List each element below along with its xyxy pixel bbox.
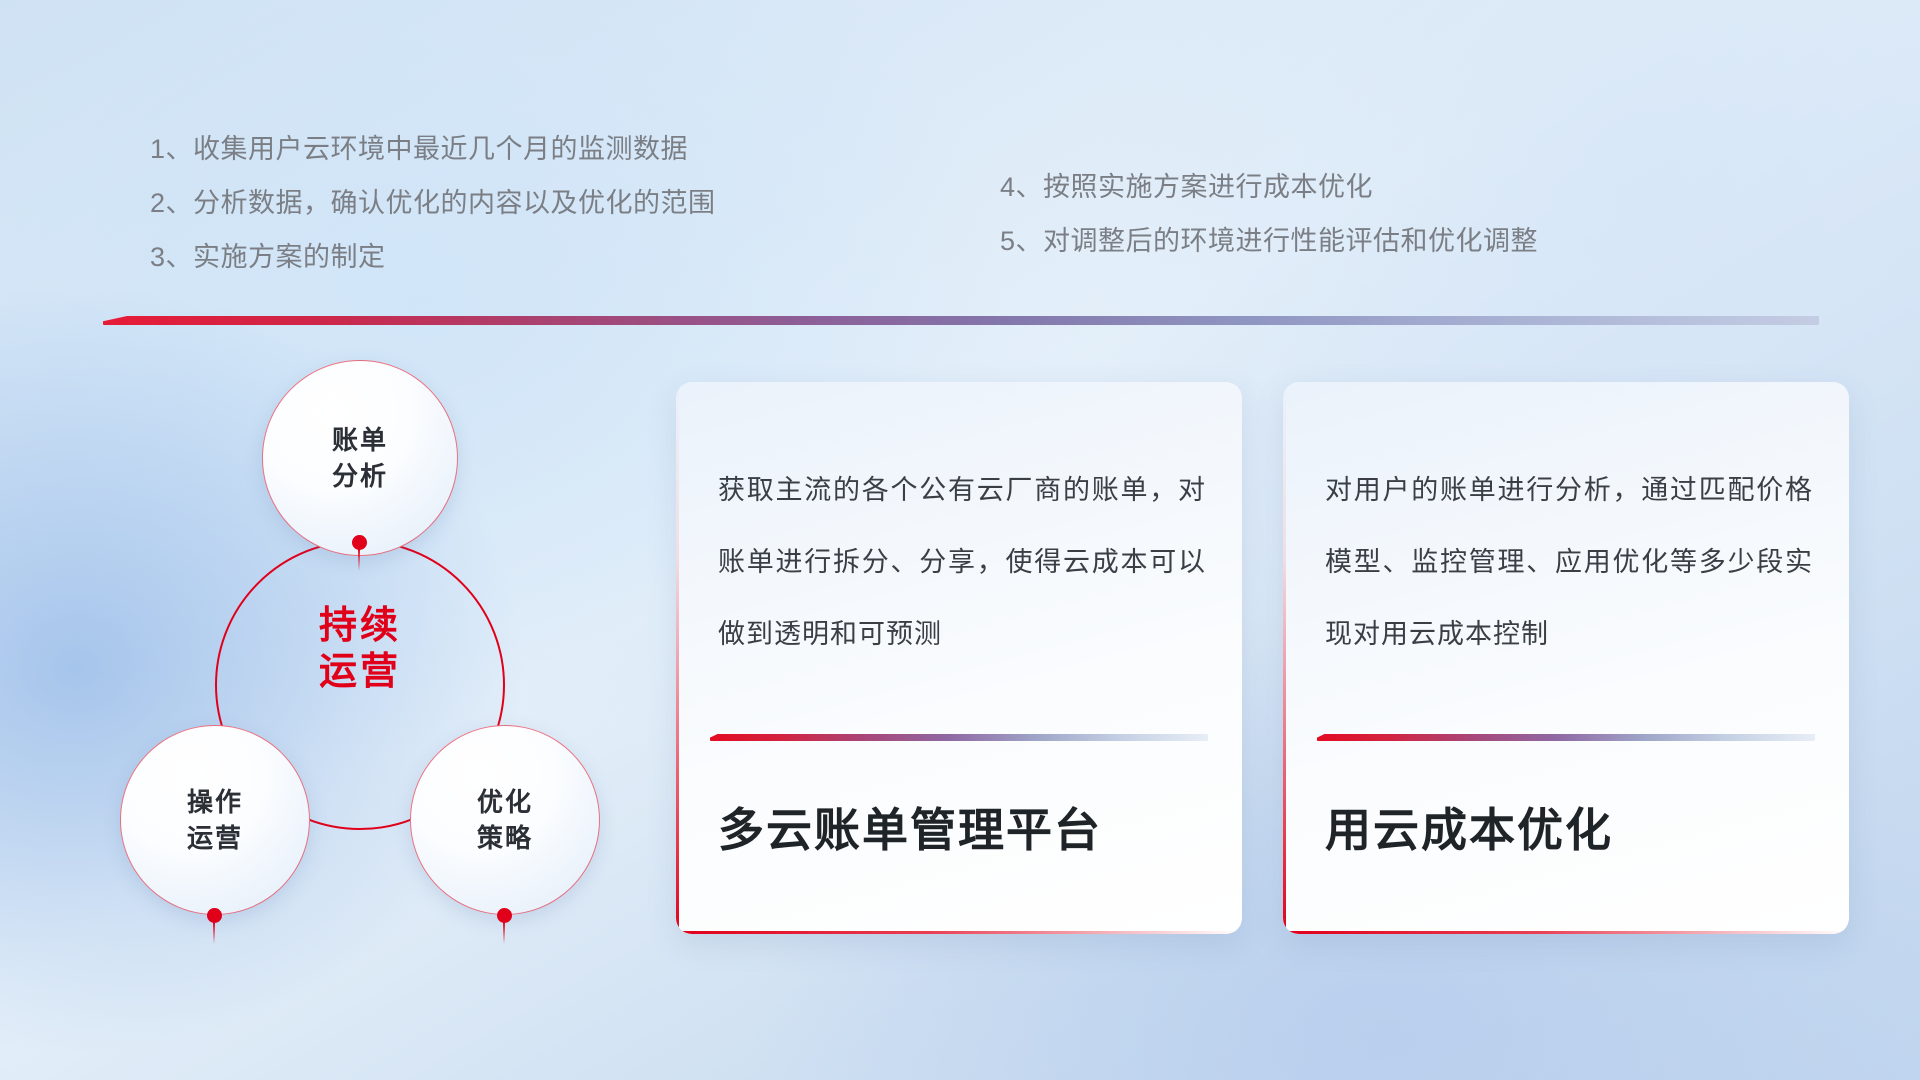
diagram-bubble-optimization-strategy[interactable]: 优化 策略 (410, 725, 600, 915)
card-multicloud-billing-platform[interactable]: 获取主流的各个公有云厂商的账单，对账单进行拆分、分享，使得云成本可以做到透明和可… (676, 382, 1242, 934)
bubble-label-line1: 账单 (332, 422, 388, 458)
card-body-text: 对用户的账单进行分析，通过匹配价格模型、监控管理、应用优化等多少段实现对用云成本… (1325, 454, 1813, 670)
continuous-operations-diagram: 持续 运营 账单 分析 操作 运营 优化 策略 (100, 355, 630, 935)
diagram-node-dot (352, 535, 367, 550)
bubble-label-line2: 运营 (187, 820, 243, 856)
diagram-bubble-billing-analysis[interactable]: 账单 分析 (262, 360, 458, 556)
bubble-label-line1: 操作 (187, 784, 243, 820)
center-label-line2: 运营 (215, 649, 505, 695)
diagram-bubble-operations[interactable]: 操作 运营 (120, 725, 310, 915)
card-cloud-cost-optimization[interactable]: 对用户的账单进行分析，通过匹配价格模型、监控管理、应用优化等多少段实现对用云成本… (1283, 382, 1849, 934)
section-divider (103, 316, 1819, 325)
card-accent-rule (710, 734, 1208, 741)
bubble-label-line1: 优化 (477, 784, 533, 820)
card-accent-rule (1317, 734, 1815, 741)
center-label-line1: 持续 (215, 603, 505, 649)
diagram-node-dot (497, 908, 512, 923)
card-title: 用云成本优化 (1325, 800, 1819, 860)
diagram-node-dot (207, 908, 222, 923)
bubble-label-line2: 分析 (332, 458, 388, 494)
card-body-text: 获取主流的各个公有云厂商的账单，对账单进行拆分、分享，使得云成本可以做到透明和可… (718, 454, 1206, 670)
process-step: 1、收集用户云环境中最近几个月的监测数据 (150, 122, 716, 176)
diagram-center-label: 持续 运营 (215, 603, 505, 695)
process-step: 2、分析数据，确认优化的内容以及优化的范围 (150, 176, 716, 230)
process-steps-right: 4、按照实施方案进行成本优化 5、对调整后的环境进行性能评估和优化调整 (1000, 160, 1538, 268)
process-step: 5、对调整后的环境进行性能评估和优化调整 (1000, 214, 1538, 268)
process-step: 3、实施方案的制定 (150, 230, 716, 284)
card-title: 多云账单管理平台 (718, 800, 1212, 860)
diagram-node-tail (358, 549, 360, 571)
diagram-node-tail (503, 922, 505, 944)
process-steps-left: 1、收集用户云环境中最近几个月的监测数据 2、分析数据，确认优化的内容以及优化的… (150, 122, 716, 284)
slide-root: 1、收集用户云环境中最近几个月的监测数据 2、分析数据，确认优化的内容以及优化的… (0, 0, 1920, 1080)
diagram-node-tail (213, 922, 215, 944)
process-step: 4、按照实施方案进行成本优化 (1000, 160, 1538, 214)
bubble-label-line2: 策略 (477, 820, 533, 856)
